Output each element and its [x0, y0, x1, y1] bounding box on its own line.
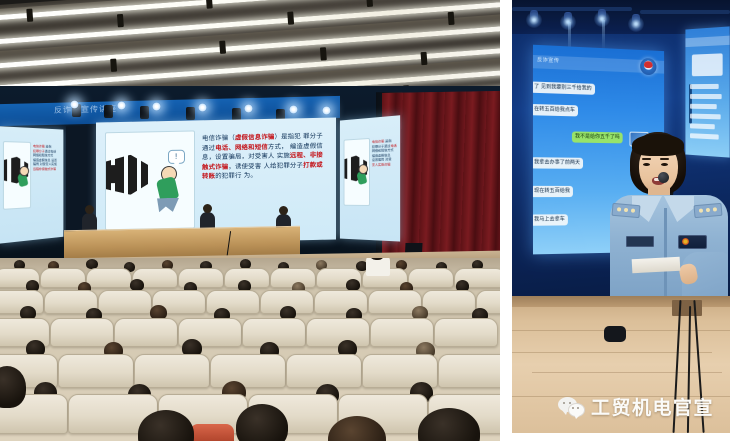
documents [632, 257, 681, 273]
police-emblem-icon [640, 58, 656, 75]
screen-header-title: 反诈宣传 [537, 56, 559, 64]
photo-composite: 反诈骗宣传讲座 电信诈骗 是指 犯罪分子通过电话 网络和短信方 [0, 0, 730, 441]
wechat-watermark: 工贸机电官宣 [558, 393, 714, 420]
microphone-icon [658, 172, 669, 183]
projection-screen-main: ! 电信诈骗（虚假信息诈骗）是指犯 罪分子通过电话、网络和短信方式， 编造虚假信… [96, 117, 336, 244]
projection-screen-right: 电信诈骗 是指 犯罪分子通过电话 网络和短信方式 编造虚假信息 设置骗局 对受 … [340, 115, 400, 241]
slide-illustration: ! [105, 130, 195, 230]
chest-badge [678, 235, 707, 249]
projection-screen-left: 电信诈骗 是指 犯罪分子通过电话 网络和短信方式 编造虚假信息 设置 骗局 对受… [0, 126, 63, 243]
chat-bubble: 现在转五百给我 [533, 186, 573, 197]
microphone-base [604, 326, 626, 342]
slide-body-text: 电信诈骗（虚假信息诈骗）是指犯 罪分子通过电话、网络和短信方式， 编造虚假信息，… [202, 132, 326, 183]
name-tag [626, 236, 654, 247]
chat-bubble: 了 见到我要别三千给我的 [533, 81, 595, 94]
photo-gutter [500, 0, 512, 441]
chat-bubble: 我拿去办事了前两天 [533, 157, 583, 169]
presenter-officer [608, 132, 730, 307]
shoulder-insignia [611, 203, 640, 218]
audience-seating [0, 258, 500, 441]
bottom-margin [512, 433, 730, 441]
watermark-text: 工贸机电官宣 [591, 393, 714, 420]
wechat-icon [558, 397, 584, 417]
chat-bubble: 在转五百给我点车 [533, 104, 578, 116]
right-photo-officer: 反诈宣传 了 见到我要别三千给我的 在转五百给我点车 我不是给你五千了吗 我拿去… [512, 0, 730, 433]
left-photo-auditorium: 反诈骗宣传讲座 电信诈骗 是指 犯罪分子通过电话 网络和短信方 [0, 0, 500, 441]
chat-bubble: 我马上去拿车 [533, 214, 568, 226]
shoulder-insignia [693, 203, 722, 218]
